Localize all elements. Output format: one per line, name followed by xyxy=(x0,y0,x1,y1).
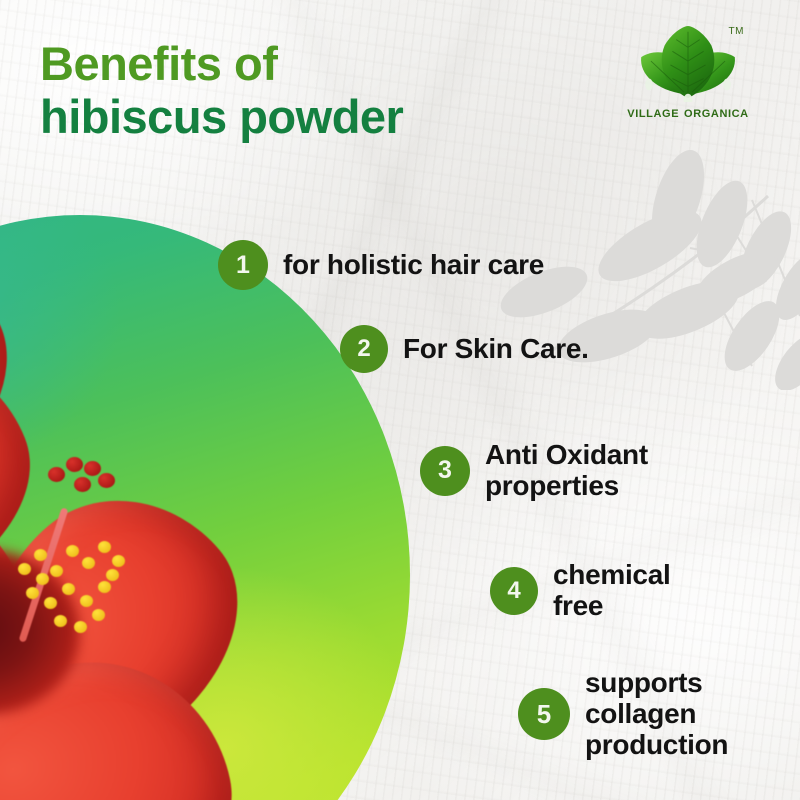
infographic-canvas: Benefits of hibiscus powder xyxy=(0,0,800,800)
benefit-number-badge: 5 xyxy=(518,688,570,740)
benefit-label: supports collagen production xyxy=(585,668,728,760)
benefit-number-badge: 3 xyxy=(420,446,470,496)
benefit-item-3[interactable]: 3 Anti Oxidant properties xyxy=(420,440,648,502)
benefit-item-4[interactable]: 4 chemical free xyxy=(490,560,670,622)
benefit-label: chemical free xyxy=(553,560,670,622)
benefit-item-2[interactable]: 2 For Skin Care. xyxy=(340,325,589,373)
benefit-item-1[interactable]: 1 for holistic hair care xyxy=(218,240,544,290)
benefit-label: For Skin Care. xyxy=(403,333,589,364)
benefit-label: for holistic hair care xyxy=(283,249,544,280)
benefits-list: 1 for holistic hair care 2 For Skin Care… xyxy=(0,0,800,800)
benefit-label: Anti Oxidant properties xyxy=(485,440,648,502)
benefit-item-5[interactable]: 5 supports collagen production xyxy=(518,668,728,760)
benefit-number-badge: 1 xyxy=(218,240,268,290)
benefit-number-badge: 4 xyxy=(490,567,538,615)
benefit-number-badge: 2 xyxy=(340,325,388,373)
